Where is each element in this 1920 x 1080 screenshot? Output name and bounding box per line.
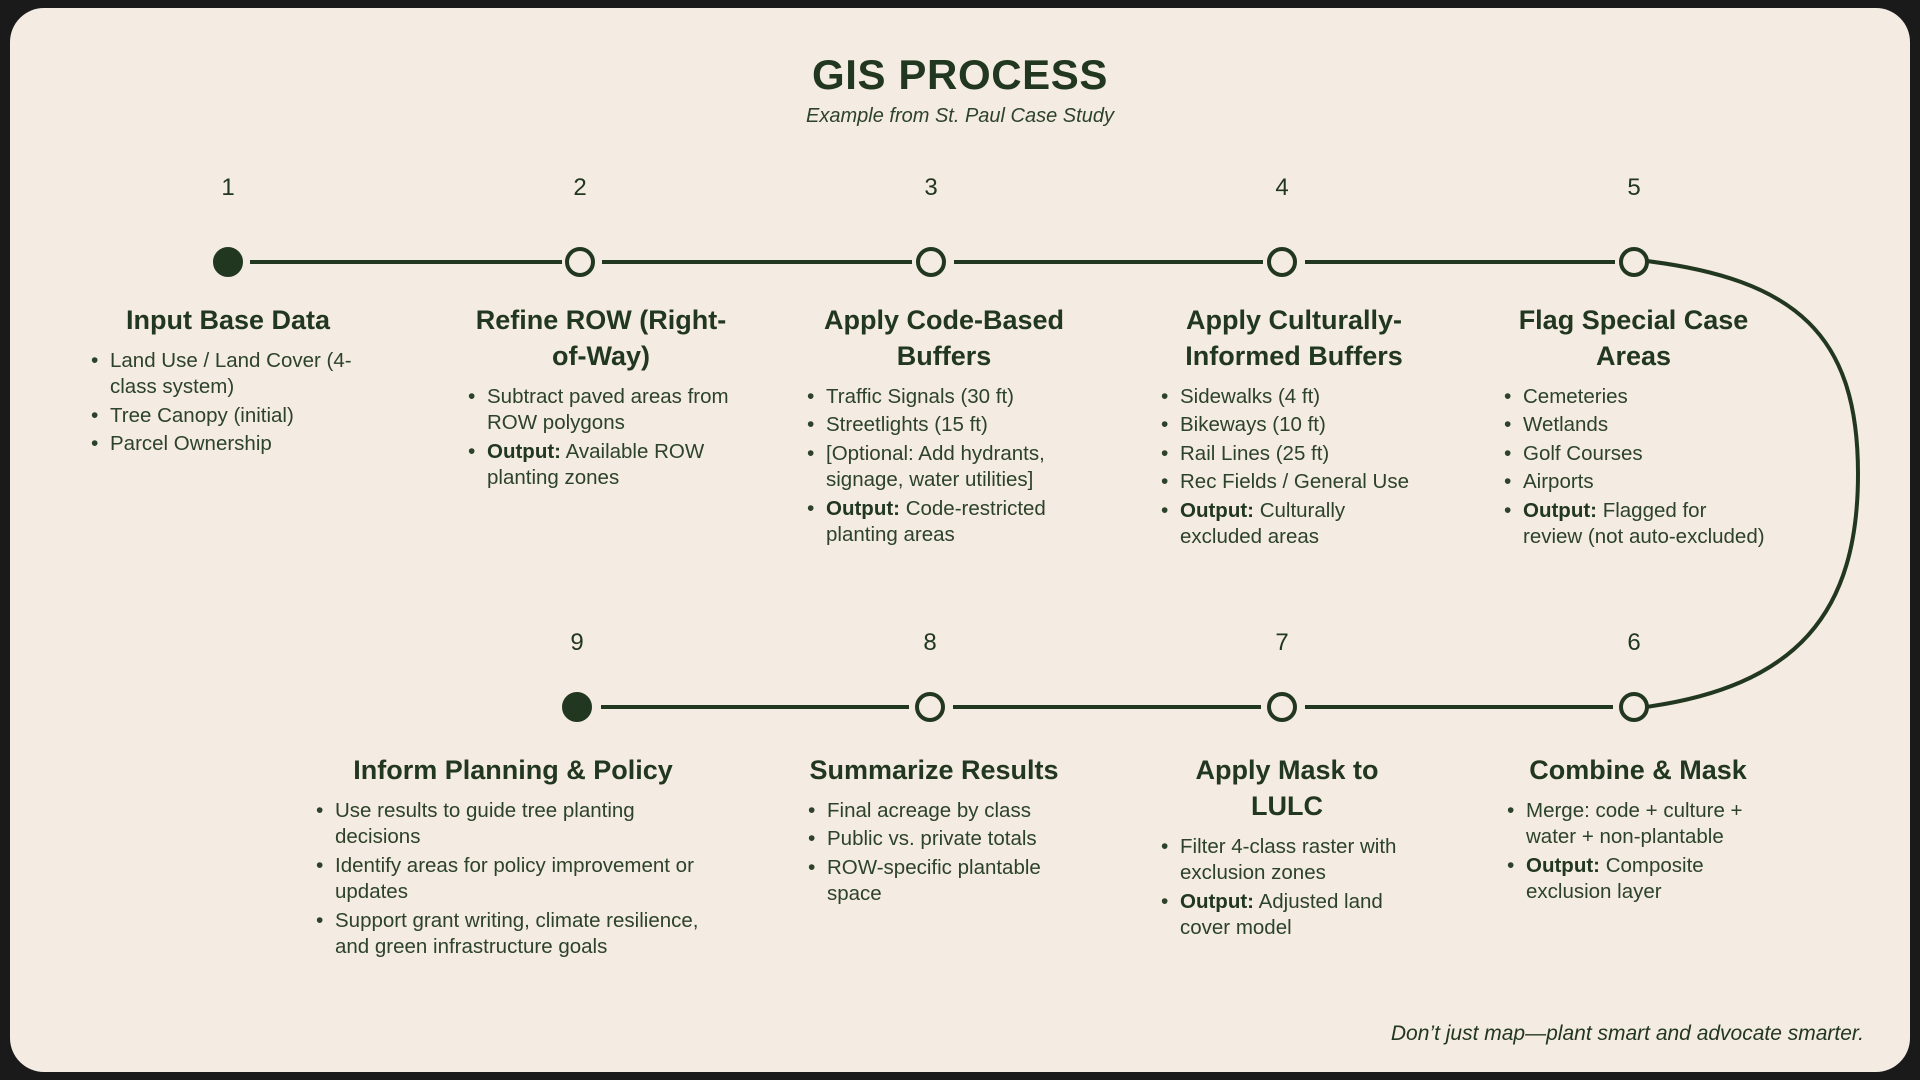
infographic-card: GIS PROCESS Example from St. Paul Case S… xyxy=(10,8,1910,1072)
step-node-8[interactable] xyxy=(915,692,945,722)
step-bullet: Output: Code-restricted planting areas xyxy=(804,496,1084,549)
step-title-7: Apply Mask to LULC xyxy=(1158,753,1416,825)
bullet-lead-label: Output: xyxy=(1523,499,1597,522)
step-node-2[interactable] xyxy=(565,247,595,277)
step-number-4: 4 xyxy=(1275,176,1288,200)
connector-3-4 xyxy=(954,260,1263,264)
step-bullet: Identify areas for policy improvement or… xyxy=(313,853,713,906)
step-number-1: 1 xyxy=(221,176,234,200)
step-card-6: Combine & Mask Merge: code + culture + w… xyxy=(1504,753,1772,908)
step-number-3: 3 xyxy=(924,176,937,200)
step-bullets-3: Traffic Signals (30 ft)Streetlights (15 … xyxy=(804,384,1084,549)
step-title-9: Inform Planning & Policy xyxy=(313,753,713,789)
page-subtitle: Example from St. Paul Case Study xyxy=(10,105,1910,128)
footer-tagline: Don’t just map—plant smart and advocate … xyxy=(1391,1022,1864,1046)
step-node-3[interactable] xyxy=(916,247,946,277)
step-bullet: Output: Flagged for review (not auto-exc… xyxy=(1501,498,1766,551)
step-title-8: Summarize Results xyxy=(805,753,1063,789)
step-bullet: Streetlights (15 ft) xyxy=(804,412,1084,438)
step-bullets-4: Sidewalks (4 ft)Bikeways (10 ft)Rail Lin… xyxy=(1158,384,1430,551)
step-bullet: Cemeteries xyxy=(1501,384,1766,410)
step-bullet: Golf Courses xyxy=(1501,441,1766,467)
step-bullets-9: Use results to guide tree planting decis… xyxy=(313,798,713,961)
step-bullet: Output: Composite exclusion layer xyxy=(1504,853,1772,906)
step-bullet: ROW-specific plantable space xyxy=(805,855,1063,908)
step-bullet: Final acreage by class xyxy=(805,798,1063,824)
step-bullet: Output: Culturally excluded areas xyxy=(1158,498,1430,551)
step-title-4: Apply Culturally-Informed Buffers xyxy=(1158,303,1430,375)
header: GIS PROCESS Example from St. Paul Case S… xyxy=(10,8,1910,128)
step-bullet: Merge: code + culture + water + non-plan… xyxy=(1504,798,1772,851)
step-title-3: Apply Code-Based Buffers xyxy=(804,303,1084,375)
step-number-6: 6 xyxy=(1627,631,1640,655)
bullet-lead-label: Output: xyxy=(826,497,900,520)
step-card-5: Flag Special Case Areas CemeteriesWetlan… xyxy=(1501,303,1766,552)
page-title: GIS PROCESS xyxy=(10,52,1910,98)
step-card-8: Summarize Results Final acreage by class… xyxy=(805,753,1063,910)
step-bullet: Airports xyxy=(1501,469,1766,495)
step-bullet: Rail Lines (25 ft) xyxy=(1158,441,1430,467)
step-number-8: 8 xyxy=(923,631,936,655)
step-card-1: Input Base Data Land Use / Land Cover (4… xyxy=(88,303,368,460)
step-node-6[interactable] xyxy=(1619,692,1649,722)
step-card-7: Apply Mask to LULC Filter 4-class raster… xyxy=(1158,753,1416,944)
bullet-lead-label: Output: xyxy=(1180,890,1254,913)
step-bullet: Filter 4-class raster with exclusion zon… xyxy=(1158,834,1416,887)
step-bullet: Wetlands xyxy=(1501,412,1766,438)
step-title-5: Flag Special Case Areas xyxy=(1501,303,1766,375)
step-bullet: Subtract paved areas from ROW polygons xyxy=(465,384,737,437)
connector-1-2 xyxy=(250,260,562,264)
step-bullets-6: Merge: code + culture + water + non-plan… xyxy=(1504,798,1772,906)
step-bullet: Land Use / Land Cover (4-class system) xyxy=(88,348,368,401)
step-bullets-7: Filter 4-class raster with exclusion zon… xyxy=(1158,834,1416,942)
step-bullet: Tree Canopy (initial) xyxy=(88,403,368,429)
step-card-4: Apply Culturally-Informed Buffers Sidewa… xyxy=(1158,303,1430,552)
step-bullet: Support grant writing, climate resilienc… xyxy=(313,908,713,961)
step-bullet: Output: Adjusted land cover model xyxy=(1158,889,1416,942)
step-number-5: 5 xyxy=(1627,176,1640,200)
bullet-lead-label: Output: xyxy=(487,440,561,463)
step-bullet: Use results to guide tree planting decis… xyxy=(313,798,713,851)
step-node-4[interactable] xyxy=(1267,247,1297,277)
connector-7-6 xyxy=(1305,705,1613,709)
step-node-1[interactable] xyxy=(213,247,243,277)
step-bullet: Parcel Ownership xyxy=(88,431,368,457)
step-bullet: Output: Available ROW planting zones xyxy=(465,439,737,492)
connector-4-5 xyxy=(1305,260,1615,264)
step-node-9[interactable] xyxy=(562,692,592,722)
step-title-1: Input Base Data xyxy=(88,303,368,339)
step-title-6: Combine & Mask xyxy=(1504,753,1772,789)
connector-2-3 xyxy=(602,260,912,264)
connector-8-7 xyxy=(953,705,1261,709)
step-bullets-8: Final acreage by classPublic vs. private… xyxy=(805,798,1063,908)
step-number-2: 2 xyxy=(573,176,586,200)
step-title-2: Refine ROW (Right-of-Way) xyxy=(465,303,737,375)
step-node-7[interactable] xyxy=(1267,692,1297,722)
connector-9-8 xyxy=(601,705,909,709)
step-number-9: 9 xyxy=(570,631,583,655)
step-bullet: Public vs. private totals xyxy=(805,826,1063,852)
step-bullets-1: Land Use / Land Cover (4-class system)Tr… xyxy=(88,348,368,458)
bullet-lead-label: Output: xyxy=(1526,854,1600,877)
step-bullets-2: Subtract paved areas from ROW polygonsOu… xyxy=(465,384,737,492)
bullet-lead-label: Output: xyxy=(1180,499,1254,522)
step-bullet: [Optional: Add hydrants, signage, water … xyxy=(804,441,1084,494)
step-card-3: Apply Code-Based Buffers Traffic Signals… xyxy=(804,303,1084,550)
step-bullets-5: CemeteriesWetlandsGolf CoursesAirportsOu… xyxy=(1501,384,1766,551)
step-bullet: Sidewalks (4 ft) xyxy=(1158,384,1430,410)
step-bullet: Traffic Signals (30 ft) xyxy=(804,384,1084,410)
step-bullet: Rec Fields / General Use xyxy=(1158,469,1430,495)
step-node-5[interactable] xyxy=(1619,247,1649,277)
step-card-9: Inform Planning & Policy Use results to … xyxy=(313,753,713,963)
step-card-2: Refine ROW (Right-of-Way) Subtract paved… xyxy=(465,303,737,494)
step-bullet: Bikeways (10 ft) xyxy=(1158,412,1430,438)
screenshot-canvas: GIS PROCESS Example from St. Paul Case S… xyxy=(0,0,1920,1080)
step-number-7: 7 xyxy=(1275,631,1288,655)
